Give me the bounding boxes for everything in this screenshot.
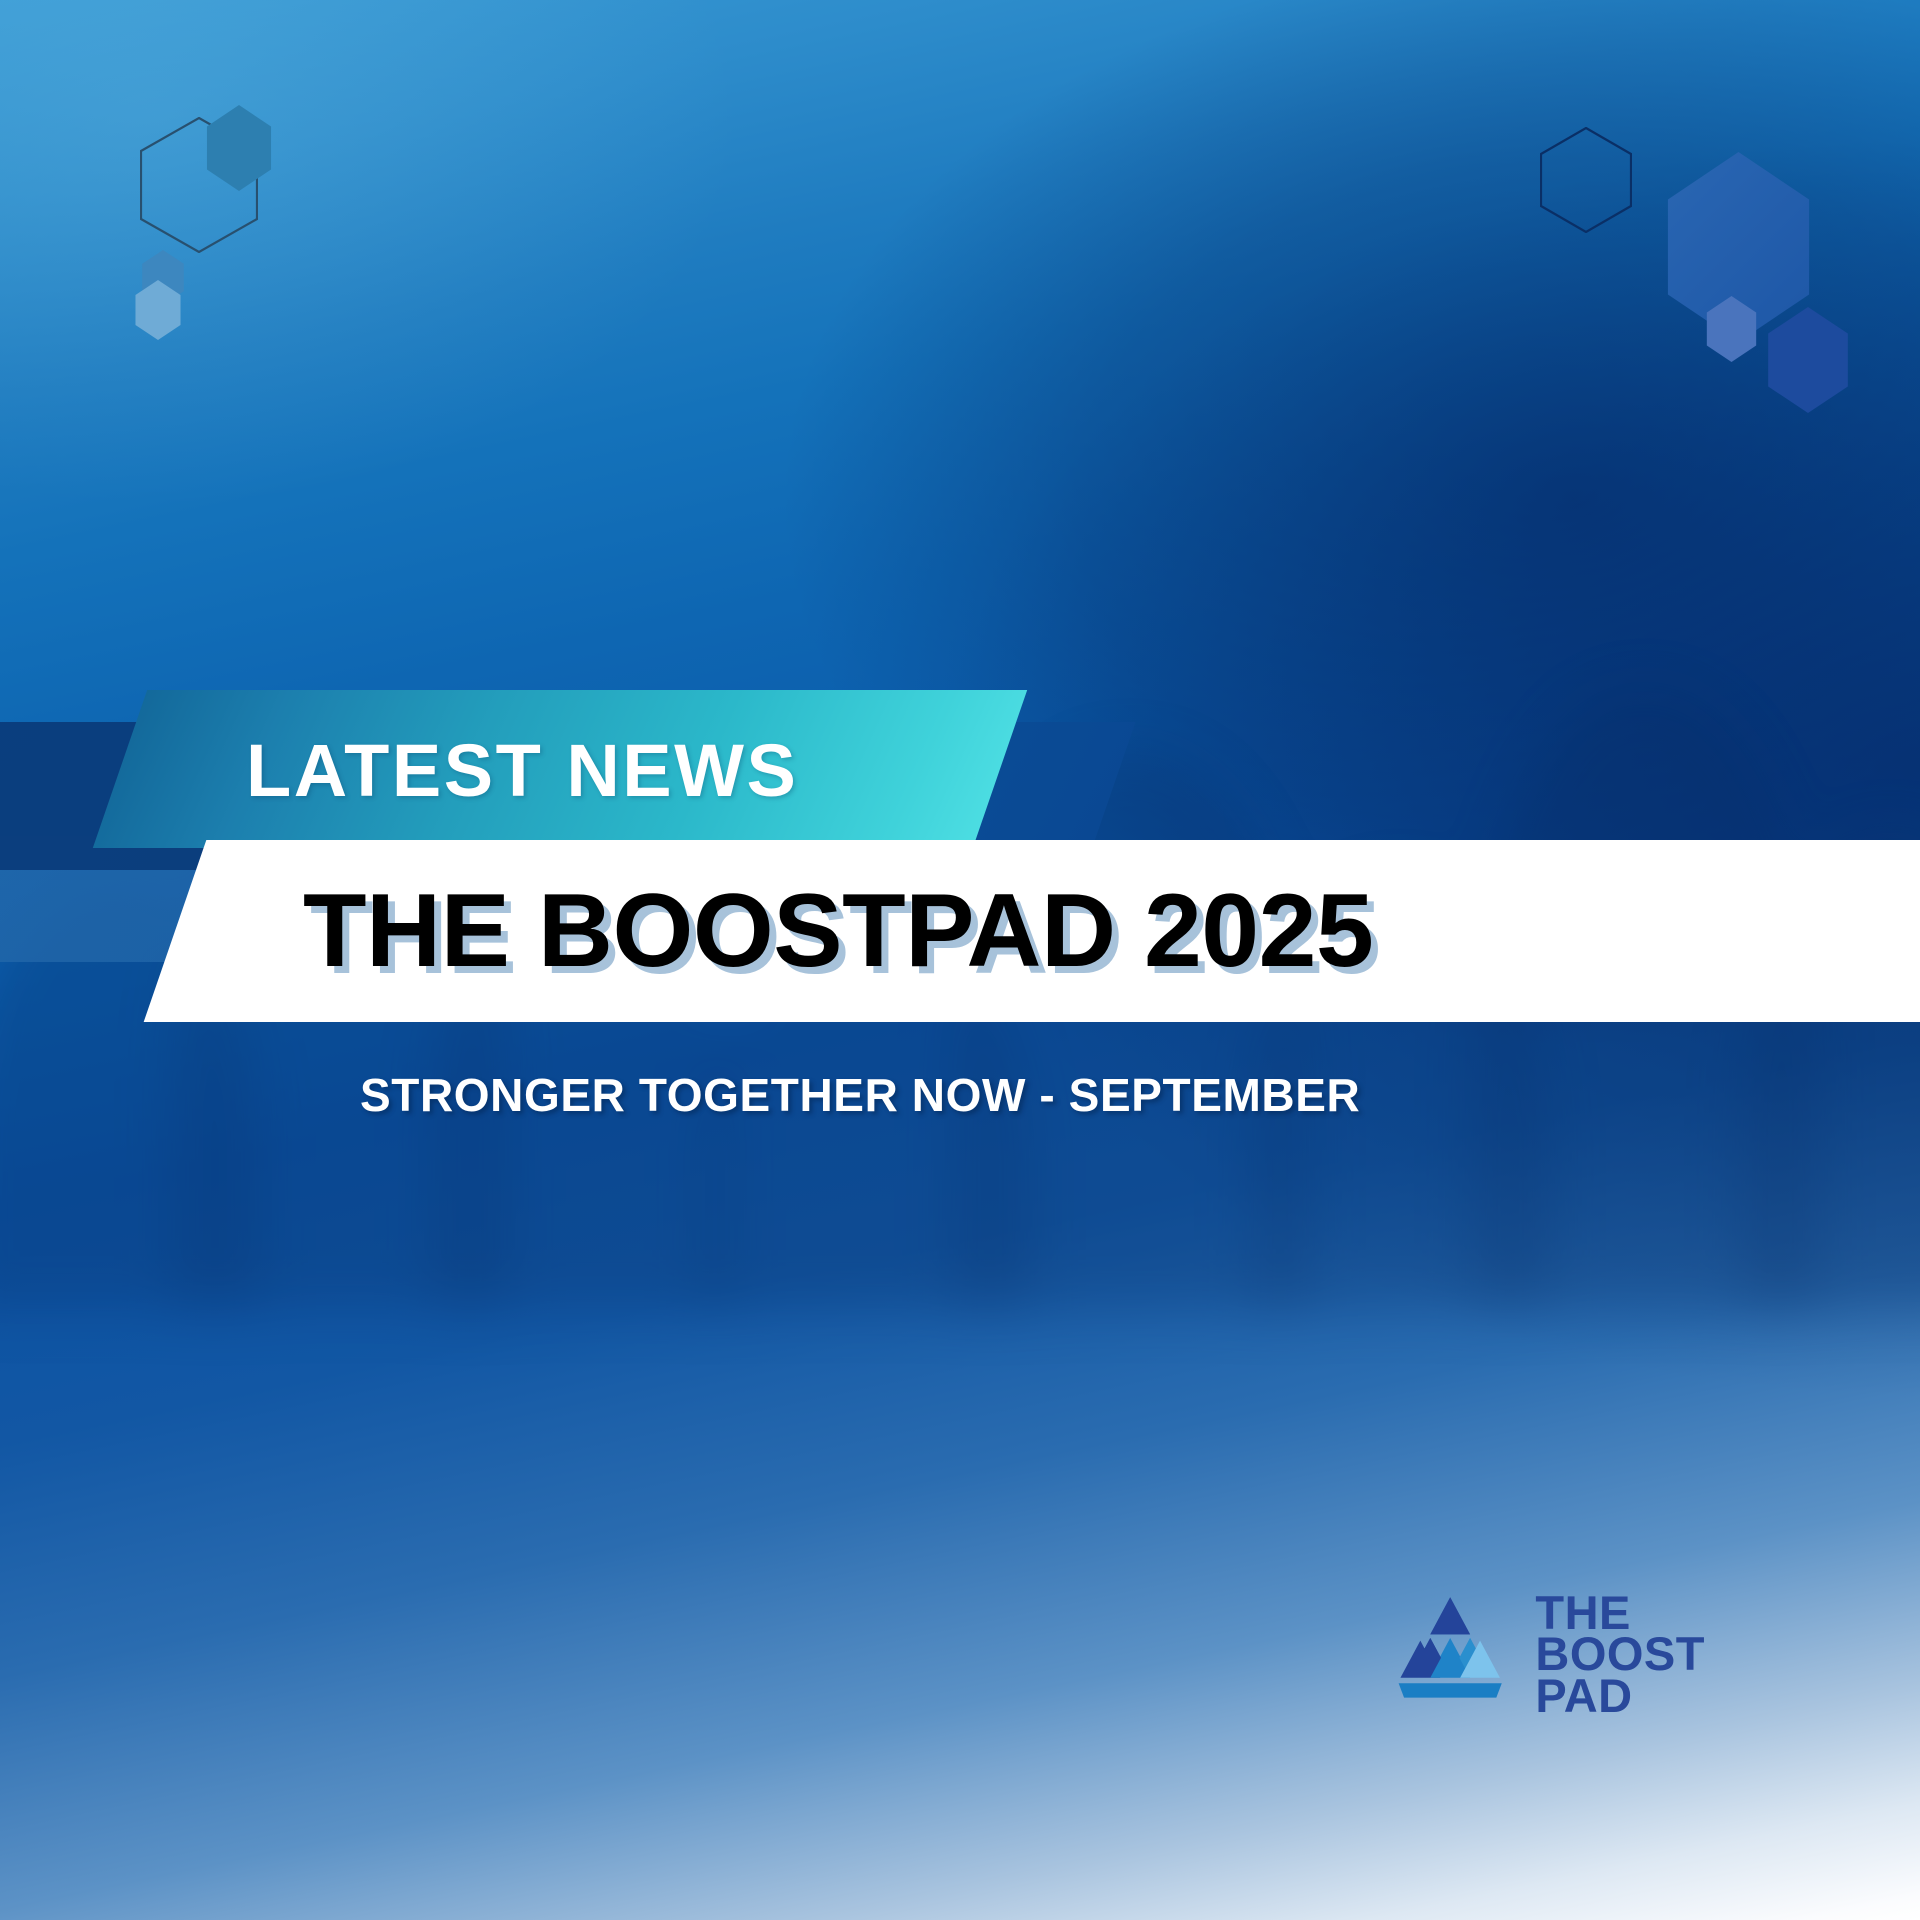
news-announcement-poster: LATEST NEWS THE BOOSTPAD 2025 STRONGER T… <box>0 0 1920 1920</box>
eyebrow-label: LATEST NEWS <box>246 700 1006 840</box>
brand-logo: THE BOOST PAD <box>1395 1588 1705 1738</box>
logo-wordmark: THE BOOST PAD <box>1535 1588 1705 1716</box>
hex-small-dark <box>1762 307 1854 413</box>
hex-outline-medium <box>1540 127 1632 233</box>
page-title: THE BOOSTPAD 2025 <box>303 848 1863 1014</box>
triangle-pyramid-mark <box>1395 1588 1505 1706</box>
page-subtitle: STRONGER TOGETHER NOW - SEPTEMBER <box>360 1068 1560 1122</box>
logo-line-3: PAD <box>1535 1675 1705 1716</box>
silhouette <box>0 880 260 1310</box>
